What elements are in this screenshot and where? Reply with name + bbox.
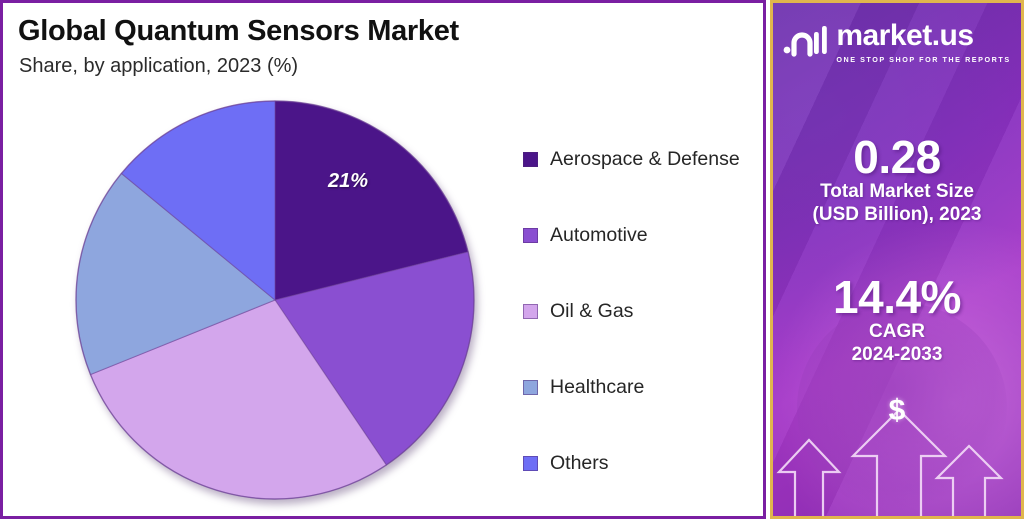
legend-swatch-icon <box>523 380 538 395</box>
legend-swatch-icon <box>523 228 538 243</box>
legend-item-oil-gas[interactable]: Oil & Gas <box>523 273 763 349</box>
up-arrow-icon-left <box>779 440 839 516</box>
market-size-caption-line1: Total Market Size <box>773 181 1021 203</box>
market-size-caption-line2: (USD Billion), 2023 <box>773 204 1021 226</box>
legend-item-label: Oil & Gas <box>550 300 633 323</box>
legend-item-label: Automotive <box>550 224 648 247</box>
legend-item-others[interactable]: Others <box>523 425 763 501</box>
legend-item-label: Healthcare <box>550 376 644 399</box>
market-size-value: 0.28 <box>773 133 1021 181</box>
legend-item-label: Others <box>550 452 609 475</box>
dollar-sign-icon: $ <box>773 394 1021 428</box>
legend-swatch-icon <box>523 304 538 319</box>
pie-slice-label-aerospace: 21% <box>328 170 368 193</box>
legend-item-automotive[interactable]: Automotive <box>523 197 763 273</box>
legend-item-aerospace-defense[interactable]: Aerospace & Defense <box>523 121 763 197</box>
logo-wordmark: market.us <box>836 21 1010 51</box>
chart-panel: Global Quantum Sensors Market Share, by … <box>0 0 766 519</box>
legend-swatch-icon <box>523 456 538 471</box>
cagr-caption-line2: 2024-2033 <box>773 344 1021 366</box>
legend-item-healthcare[interactable]: Healthcare <box>523 349 763 425</box>
infographic-root: Global Quantum Sensors Market Share, by … <box>0 0 1024 519</box>
growth-arrows-graphic: $ <box>773 386 1021 516</box>
page-subtitle: Share, by application, 2023 (%) <box>19 55 298 78</box>
brand-stats-panel: market.us ONE STOP SHOP FOR THE REPORTS … <box>770 0 1024 519</box>
cagr-stat: 14.4% CAGR 2024-2033 <box>773 273 1021 366</box>
cagr-caption-line1: CAGR <box>773 321 1021 343</box>
logo-tagline: ONE STOP SHOP FOR THE REPORTS <box>836 55 1010 64</box>
market-us-logo-icon <box>783 23 829 62</box>
cagr-value: 14.4% <box>773 273 1021 321</box>
market-us-logo[interactable]: market.us ONE STOP SHOP FOR THE REPORTS <box>773 21 1021 64</box>
page-title: Global Quantum Sensors Market <box>18 15 459 48</box>
pie-graphic <box>75 100 475 500</box>
chart-legend: Aerospace & Defense Automotive Oil & Gas… <box>523 121 763 501</box>
market-size-stat: 0.28 Total Market Size (USD Billion), 20… <box>773 133 1021 226</box>
pie-chart: 21% <box>75 100 475 500</box>
legend-swatch-icon <box>523 152 538 167</box>
legend-item-label: Aerospace & Defense <box>550 148 740 171</box>
